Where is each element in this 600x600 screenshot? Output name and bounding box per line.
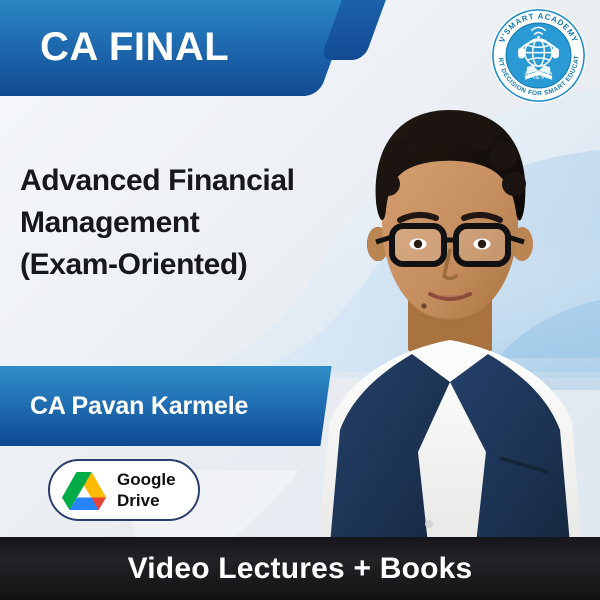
footer-banner-text: Video Lectures + Books [128, 552, 473, 586]
vsmart-academy-logo: V'SMART ACADEMY SMART DECISION FOR SMART… [490, 7, 587, 104]
course-poster: CA FINAL [0, 0, 600, 600]
footer-banner: Video Lectures + Books [0, 537, 600, 600]
google-drive-icon [61, 469, 107, 511]
course-title-line-3: (Exam-Oriented) [20, 244, 370, 286]
drive-label-line-1: Google [117, 469, 176, 490]
google-drive-label: Google Drive [117, 469, 176, 511]
course-title: Advanced Financial Management (Exam-Orie… [20, 160, 370, 286]
google-drive-badge[interactable]: Google Drive [48, 459, 200, 521]
course-title-line-2: Management [20, 202, 370, 244]
faculty-name: CA Pavan Karmele [30, 386, 248, 426]
course-title-line-1: Advanced Financial [20, 160, 370, 202]
drive-label-line-2: Drive [117, 490, 176, 511]
course-level-badge: CA FINAL [40, 22, 229, 72]
